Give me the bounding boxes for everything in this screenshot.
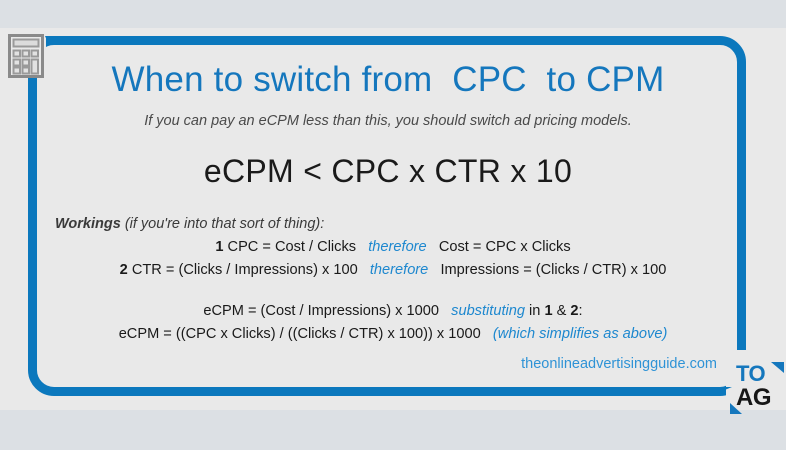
workings-label: Workings (if you're into that sort of th… [55, 216, 731, 232]
calculator-icon [8, 34, 44, 78]
logo-text-ag: AG [736, 386, 771, 410]
workings-label-bold: Workings [55, 216, 121, 232]
page-title: When to switch from CPC to CPM [45, 62, 731, 99]
step-2-left: CTR = (Clicks / Impressions) x 100 [128, 262, 358, 278]
subtitle: If you can pay an eCPM less than this, y… [45, 113, 731, 129]
logo-triangle-top-right [771, 362, 784, 373]
result-note: (which simplifies as above) [493, 326, 667, 342]
slide-content: When to switch from CPC to CPM If you ca… [45, 46, 731, 386]
footer-url[interactable]: theonlineadvertisingguide.com [521, 356, 717, 372]
step-2-connector: therefore [370, 262, 428, 278]
workings-line-1: 1 CPC = Cost / Clicks therefore Cost = C… [55, 239, 731, 255]
logo-text-to: TO [736, 363, 765, 385]
toag-logo: TO AG [730, 362, 784, 418]
substitution-right-post: : [579, 303, 583, 319]
substitution-amp: & [553, 303, 571, 319]
workings-section: Workings (if you're into that sort of th… [45, 216, 731, 342]
workings-line-2: 2 CTR = (Clicks / Impressions) x 100 the… [55, 262, 731, 278]
workings-label-rest: (if you're into that sort of thing): [121, 216, 324, 232]
substitution-right-pre: in [525, 303, 544, 319]
step-1-left: CPC = Cost / Clicks [223, 239, 356, 255]
substitution-line: eCPM = (Cost / Impressions) x 1000 subst… [55, 303, 731, 319]
step-1-right: Cost = CPC x Clicks [439, 239, 571, 255]
result-left: eCPM = ((CPC x Clicks) / ((Clicks / CTR)… [119, 326, 481, 342]
substitution-left: eCPM = (Cost / Impressions) x 1000 [203, 303, 439, 319]
step-2-right: Impressions = (Clicks / CTR) x 100 [440, 262, 666, 278]
substitution-connector: substituting [451, 303, 525, 319]
spacer [55, 278, 731, 296]
substitution-ref-1: 1 [544, 303, 552, 319]
step-number-2: 2 [120, 262, 128, 278]
substitution-ref-2: 2 [570, 303, 578, 319]
slide-canvas: When to switch from CPC to CPM If you ca… [0, 0, 786, 450]
result-line: eCPM = ((CPC x Clicks) / ((Clicks / CTR)… [55, 326, 731, 342]
step-1-connector: therefore [368, 239, 426, 255]
main-formula: eCPM < CPC x CTR x 10 [45, 153, 731, 190]
